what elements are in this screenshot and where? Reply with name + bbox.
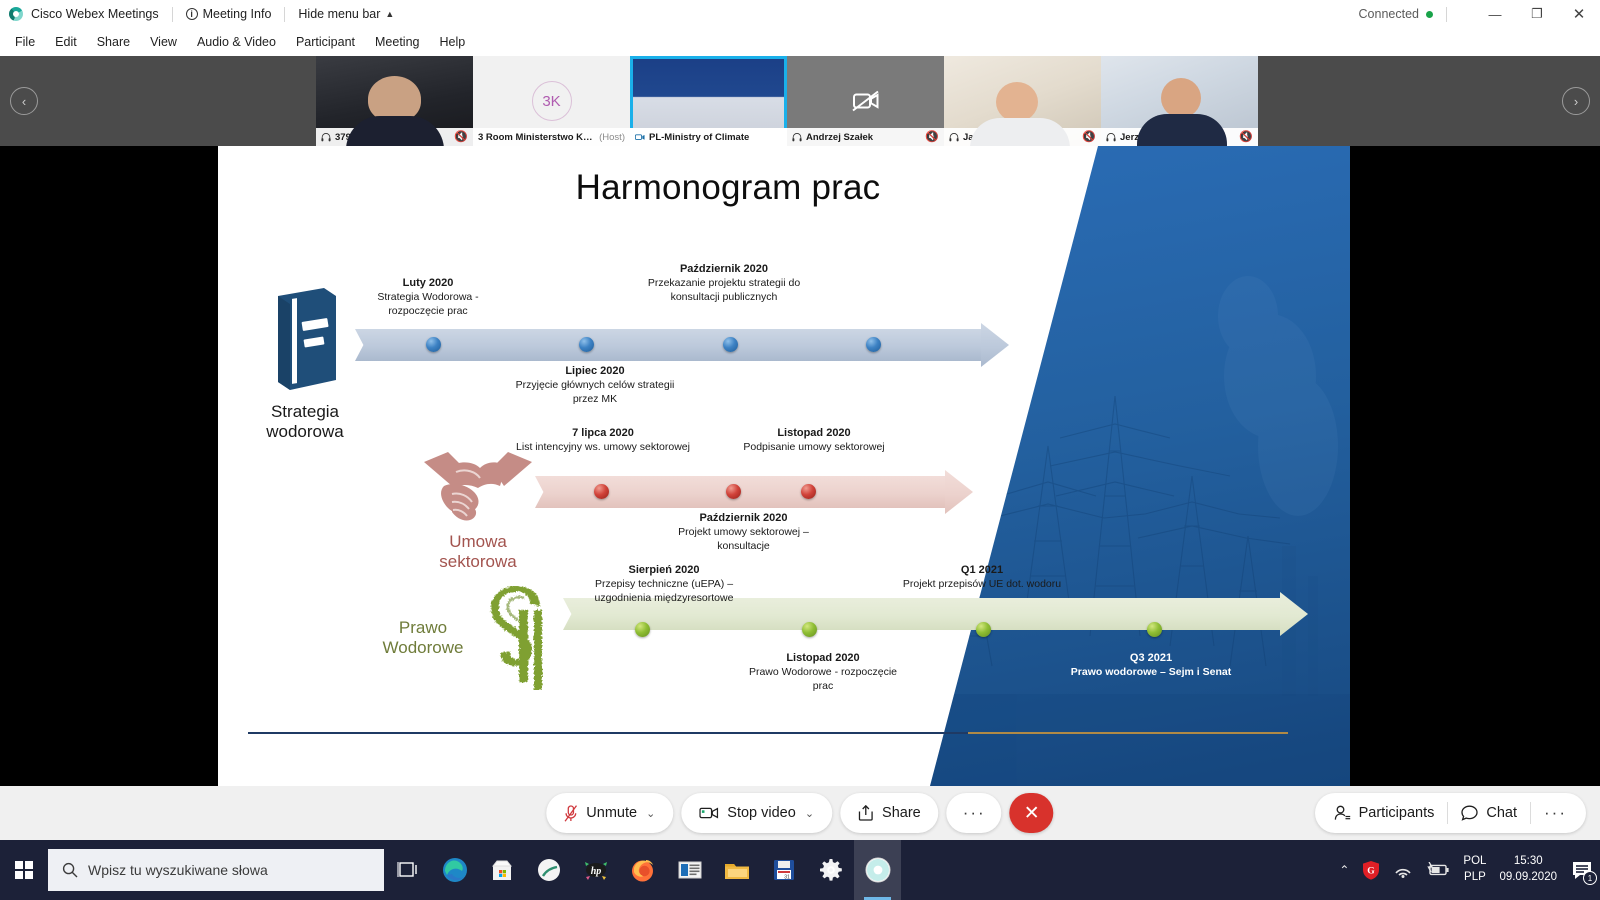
ellipsis-icon: ··· <box>1544 808 1567 818</box>
muted-mic-icon: 🔇 <box>1239 132 1253 143</box>
task-view-icon[interactable] <box>384 840 431 900</box>
meeting-control-bar: Unmute ⌄ Stop video ⌄ Share ··· ✕ <box>0 786 1600 840</box>
leave-meeting-button[interactable]: ✕ <box>1010 793 1054 833</box>
transmission-towers-image <box>930 146 1350 786</box>
paragraph-icon <box>484 586 556 690</box>
participant-tile[interactable]: Andrzej Szałek 🔇 <box>787 56 944 146</box>
participant-tile[interactable]: 379 (Me) 🔇 <box>316 56 473 146</box>
participant-tile[interactable]: Jerzy Topolski 🔇 <box>1101 56 1258 146</box>
hp-icon[interactable]: hp <box>572 840 619 900</box>
clock-date: 09.09.2020 <box>1499 870 1557 886</box>
share-upload-icon <box>858 805 873 821</box>
green-circle-app-icon[interactable] <box>525 840 572 900</box>
milestone-caption: Lipiec 2020 Przyjęcie głównych celów str… <box>510 364 680 406</box>
milestone-dot <box>426 337 441 352</box>
chevron-up-icon: ▲ <box>385 9 394 19</box>
headphone-icon <box>321 133 331 142</box>
titlebar-divider-3 <box>1446 7 1447 22</box>
milestone-caption: Q3 2021 Prawo wodorowe – Sejm i Senat <box>1060 651 1242 680</box>
milestone-dot <box>635 622 650 637</box>
start-button[interactable] <box>0 840 48 900</box>
notifications-button[interactable]: 1 <box>1570 858 1594 882</box>
wifi-icon[interactable] <box>1393 862 1413 878</box>
webex-icon[interactable] <box>854 840 901 900</box>
windows-logo-icon <box>15 861 33 879</box>
chat-bubble-icon <box>1461 805 1478 821</box>
row-label: Prawo Wodorowe <box>368 618 478 659</box>
unmute-button[interactable]: Unmute ⌄ <box>546 793 673 833</box>
app-title: Cisco Webex Meetings <box>31 7 159 21</box>
tray-expand-icon[interactable]: ⌃ <box>1339 863 1349 877</box>
arrow-head <box>945 470 973 514</box>
book-icon <box>260 284 350 394</box>
slide-background-graphic <box>930 146 1350 786</box>
menu-item-audio-video[interactable]: Audio & Video <box>187 31 286 53</box>
titlebar-divider-2 <box>284 7 285 22</box>
search-input[interactable]: Wpisz tu wyszukiwane słowa <box>48 849 384 891</box>
row-umowa-sektorowa: Umowa sektorowa <box>403 446 553 573</box>
filmstrip-prev-button[interactable]: ‹ <box>10 87 38 115</box>
settings-gear-icon[interactable] <box>807 840 854 900</box>
milestone-dot <box>723 337 738 352</box>
milestone-caption: Listopad 2020 Podpisanie umowy sektorowe… <box>738 426 890 455</box>
page-title: Harmonogram prac <box>218 168 1238 208</box>
connection-status: Connected <box>1359 7 1419 21</box>
menu-item-edit[interactable]: Edit <box>45 31 87 53</box>
stop-video-button[interactable]: Stop video ⌄ <box>681 793 832 833</box>
participants-button[interactable]: Participants <box>1321 793 1448 833</box>
participant-tile[interactable]: Jarosław Sęp 🔇 <box>944 56 1101 146</box>
restore-button[interactable]: ❐ <box>1516 0 1558 28</box>
ellipsis-icon: ··· <box>963 808 986 818</box>
menu-item-meeting[interactable]: Meeting <box>365 31 429 53</box>
info-icon: i <box>186 8 198 20</box>
mic-muted-icon <box>564 805 577 822</box>
news-widget-icon[interactable] <box>666 840 713 900</box>
share-screen-icon <box>635 133 645 142</box>
muted-mic-icon: 🔇 <box>925 132 939 143</box>
slide-divider-right <box>968 732 1288 734</box>
muted-mic-icon: 🔇 <box>1082 132 1096 143</box>
presentation-slide: Harmonogram prac Strategia wodorowa <box>218 146 1350 786</box>
battery-charging-icon[interactable] <box>1426 862 1450 878</box>
video-filmstrip: ‹ › 379 (Me) 🔇 3K 3 Room Ministerstwo Kl… <box>0 56 1600 146</box>
tile-name: 379 <box>335 132 351 143</box>
unmute-label: Unmute <box>586 805 637 821</box>
milestone-dot <box>802 622 817 637</box>
titlebar-divider <box>172 7 173 22</box>
taskbar-icons: hp <box>384 840 901 900</box>
milestone-caption: Październik 2020 Projekt umowy sektorowe… <box>666 511 821 553</box>
clock-time: 15:30 <box>1499 854 1557 870</box>
windows-taskbar: Wpisz tu wyszukiwane słowa <box>0 840 1600 900</box>
search-icon <box>62 862 78 878</box>
search-placeholder: Wpisz tu wyszukiwane słowa <box>88 862 268 878</box>
tile-namebar: PL-Ministry of Climate <box>630 128 787 146</box>
milestone-dot <box>726 484 741 499</box>
arrow-head <box>1280 592 1308 636</box>
slide-divider-left <box>248 732 968 734</box>
menu-bar: File Edit Share View Audio & Video Parti… <box>0 28 1600 56</box>
participants-icon <box>1334 805 1351 821</box>
tile-name: 3 Room Ministerstwo Klimatu <box>478 132 595 143</box>
tile-namebar: Andrzej Szałek 🔇 <box>787 128 944 146</box>
tile-name-suffix: (Me) <box>355 132 375 143</box>
milestone-caption: Q1 2021 Projekt przepisów UE dot. wodoru <box>898 563 1066 592</box>
tile-namebar: Jerzy Topolski 🔇 <box>1101 128 1258 146</box>
more-options-button[interactable]: ··· <box>947 793 1002 833</box>
minimize-button[interactable]: — <box>1474 0 1516 28</box>
close-button[interactable]: ✕ <box>1558 0 1600 28</box>
milestone-caption: Listopad 2020 Prawo Wodorowe - rozpoczęc… <box>743 651 903 693</box>
tile-namebar: Jarosław Sęp 🔇 <box>944 128 1101 146</box>
svg-text:hp: hp <box>590 866 601 877</box>
menu-item-view[interactable]: View <box>140 31 187 53</box>
clock[interactable]: 15:30 09.09.2020 <box>1499 854 1557 885</box>
arrow-body <box>367 329 983 361</box>
chevron-down-icon[interactable]: ⌄ <box>646 807 655 820</box>
system-tray: ⌃ G POL PLP 15:30 09.09.2020 <box>1339 840 1600 900</box>
antivirus-shield-icon[interactable]: G <box>1362 860 1380 880</box>
svg-text:G: G <box>1368 867 1376 877</box>
menu-item-file[interactable]: File <box>5 31 45 53</box>
keyboard-layout-indicator[interactable]: POL PLP <box>1463 854 1486 885</box>
muted-mic-icon: 🔇 <box>454 132 468 143</box>
milestone-caption: Październik 2020 Przekazanie projektu st… <box>638 262 810 304</box>
tile-namebar: 379 (Me) 🔇 <box>316 128 473 146</box>
menu-item-share[interactable]: Share <box>87 31 140 53</box>
row-label: Umowa sektorowa <box>403 532 553 573</box>
connection-dot-icon <box>1426 11 1433 18</box>
chat-button[interactable]: Chat <box>1448 793 1530 833</box>
row-label: Strategia wodorowa <box>240 402 370 443</box>
arrow-head <box>981 323 1009 367</box>
meeting-info-label: Meeting Info <box>203 7 272 21</box>
tile-name: PL-Ministry of Climate <box>649 132 749 143</box>
chat-label: Chat <box>1486 805 1517 821</box>
participant-tile-active[interactable]: PL-Ministry of Climate <box>630 56 787 146</box>
window-titlebar: Cisco Webex Meetings i Meeting Info Hide… <box>0 0 1600 28</box>
webex-logo-icon <box>9 7 23 21</box>
hide-menu-bar-button[interactable]: Hide menu bar ▲ <box>298 7 394 21</box>
timeline-arrow-strategia <box>355 329 1009 361</box>
menu-item-participant[interactable]: Participant <box>286 31 365 53</box>
milestone-caption: Sierpień 2020 Przepisy techniczne (uEPA)… <box>566 563 762 605</box>
menu-item-help[interactable]: Help <box>429 31 475 53</box>
share-label: Share <box>882 805 921 821</box>
headphone-icon <box>792 133 802 142</box>
milestone-dot <box>976 622 991 637</box>
milestone-dot <box>801 484 816 499</box>
right-more-button[interactable]: ··· <box>1531 793 1580 833</box>
share-button[interactable]: Share <box>840 793 939 833</box>
shared-content-stage: Harmonogram prac Strategia wodorowa <box>0 146 1600 786</box>
firefox-icon[interactable] <box>619 840 666 900</box>
milestone-dot <box>866 337 881 352</box>
hide-menu-bar-label: Hide menu bar <box>298 7 380 21</box>
filmstrip-tiles: 379 (Me) 🔇 3K 3 Room Ministerstwo Klimat… <box>316 56 1258 146</box>
milestone-caption: 7 lipca 2020 List intencyjny ws. umowy s… <box>515 426 691 455</box>
microsoft-store-icon[interactable] <box>478 840 525 900</box>
participant-tile[interactable]: 3K 3 Room Ministerstwo Klimatu (Host) <box>473 56 630 146</box>
tile-name: Jarosław Sęp <box>963 132 1024 143</box>
camera-off-icon <box>851 89 881 113</box>
stop-video-label: Stop video <box>727 805 796 821</box>
headphone-icon <box>949 133 959 142</box>
filmstrip-next-button[interactable]: › <box>1562 87 1590 115</box>
milestone-dot <box>579 337 594 352</box>
file-explorer-icon[interactable] <box>713 840 760 900</box>
video-camera-icon <box>699 806 718 820</box>
participants-label: Participants <box>1359 805 1435 821</box>
chevron-down-icon[interactable]: ⌄ <box>805 807 814 820</box>
avatar: 3K <box>532 81 572 121</box>
tile-name: Andrzej Szałek <box>806 132 873 143</box>
notification-badge: 1 <box>1583 871 1597 885</box>
milestone-caption: Luty 2020 Strategia Wodorowa - rozpoczęc… <box>348 276 508 318</box>
milestone-dot <box>1147 622 1162 637</box>
tile-name-suffix: (Host) <box>599 132 625 143</box>
save-calendar-icon[interactable]: 31 <box>760 840 807 900</box>
meeting-info-button[interactable]: i Meeting Info <box>186 7 272 21</box>
tile-namebar: 3 Room Ministerstwo Klimatu (Host) <box>473 128 630 146</box>
handshake-icon <box>422 446 534 524</box>
tile-name: Jerzy Topolski <box>1120 132 1185 143</box>
milestone-dot <box>594 484 609 499</box>
edge-icon[interactable] <box>431 840 478 900</box>
svg-text:31: 31 <box>784 875 790 881</box>
headphone-icon <box>1106 133 1116 142</box>
